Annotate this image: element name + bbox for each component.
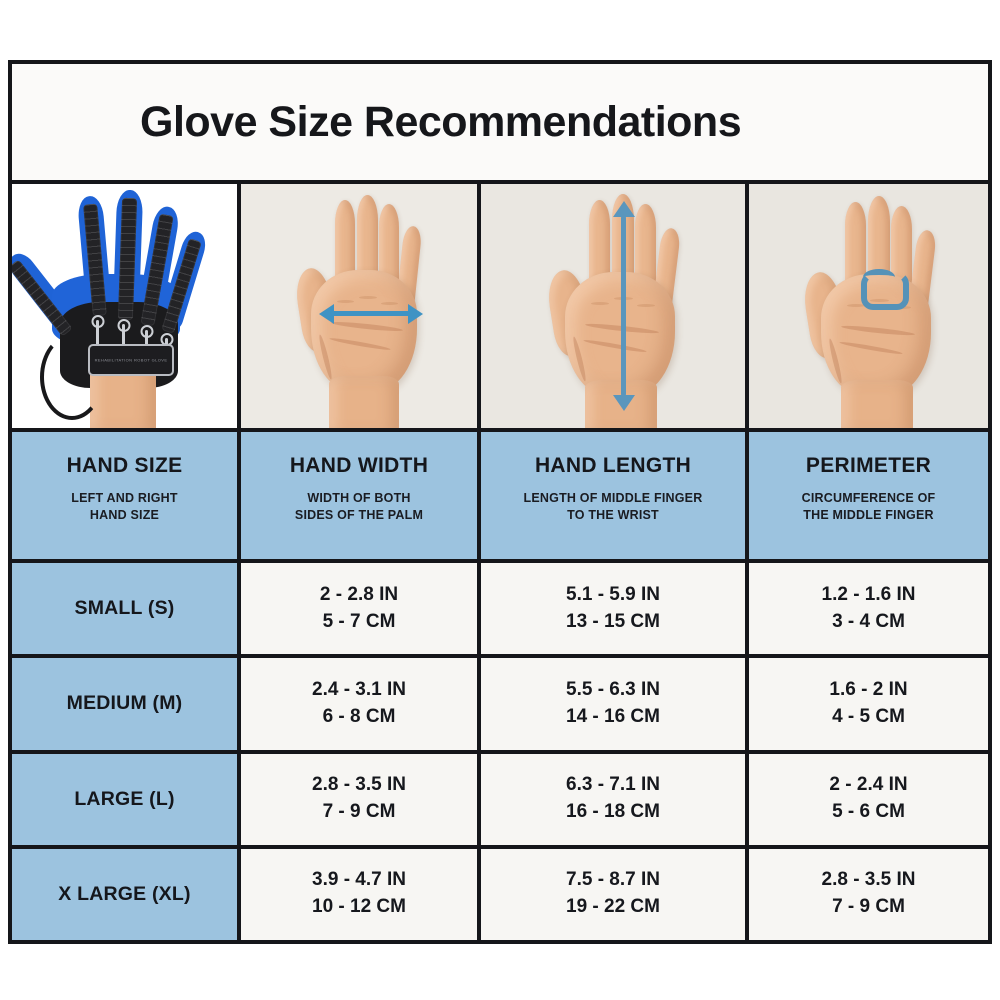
size-label: X LARGE (XL) xyxy=(58,883,190,906)
measure-inches: 2.4 - 3.1 IN xyxy=(312,677,406,704)
header-title: HAND SIZE xyxy=(67,454,183,477)
page-title: Glove Size Recommendations xyxy=(12,98,741,147)
table-row: X LARGE (XL) 3.9 - 4.7 IN 10 - 12 CM 7.5… xyxy=(12,849,988,940)
header-hand-size: HAND SIZE LEFT AND RIGHT HAND SIZE xyxy=(12,432,241,559)
measure-inches: 2.8 - 3.5 IN xyxy=(312,772,406,799)
size-label-cell: MEDIUM (M) xyxy=(12,658,241,749)
hand-graphic xyxy=(749,184,988,428)
measure-inches: 5.5 - 6.3 IN xyxy=(566,677,660,704)
size-label-cell: LARGE (L) xyxy=(12,754,241,845)
hand-length-cell: 5.1 - 5.9 IN 13 - 15 CM xyxy=(481,563,749,654)
size-label: LARGE (L) xyxy=(74,788,174,811)
hand-width-cell: 2.8 - 3.5 IN 7 - 9 CM xyxy=(241,754,481,845)
measure-cm: 10 - 12 CM xyxy=(312,894,406,921)
header-subtitle-line1: CIRCUMFERENCE OF xyxy=(802,490,936,507)
table-row: LARGE (L) 2.8 - 3.5 IN 7 - 9 CM 6.3 - 7.… xyxy=(12,754,988,849)
perimeter-cell: 2.8 - 3.5 IN 7 - 9 CM xyxy=(749,849,988,940)
size-label: SMALL (S) xyxy=(74,597,174,620)
robotic-glove-photo: REHABILITATION ROBOT GLOVE xyxy=(12,184,241,428)
illustration-row: REHABILITATION ROBOT GLOVE xyxy=(12,184,988,432)
hand-width-cell: 2.4 - 3.1 IN 6 - 8 CM xyxy=(241,658,481,749)
header-title: HAND WIDTH xyxy=(290,454,428,477)
header-subtitle: LENGTH OF MIDDLE FINGER TO THE WRIST xyxy=(524,490,703,524)
measure-cm: 16 - 18 CM xyxy=(566,799,660,826)
table-row: MEDIUM (M) 2.4 - 3.1 IN 6 - 8 CM 5.5 - 6… xyxy=(12,658,988,753)
hand-length-cell: 7.5 - 8.7 IN 19 - 22 CM xyxy=(481,849,749,940)
measure-inches: 6.3 - 7.1 IN xyxy=(566,772,660,799)
hand-length-cell: 6.3 - 7.1 IN 16 - 18 CM xyxy=(481,754,749,845)
header-subtitle-line2: THE MIDDLE FINGER xyxy=(802,507,936,524)
glove-cuff-label: REHABILITATION ROBOT GLOVE xyxy=(94,358,168,363)
hand-width-arrow xyxy=(332,311,410,316)
measure-cm: 7 - 9 CM xyxy=(323,799,396,826)
header-subtitle: CIRCUMFERENCE OF THE MIDDLE FINGER xyxy=(802,490,936,524)
measure-inches: 2 - 2.4 IN xyxy=(829,772,907,799)
column-header-row: HAND SIZE LEFT AND RIGHT HAND SIZE HAND … xyxy=(12,432,988,563)
glove-size-chart-table: Glove Size Recommendations xyxy=(8,60,992,944)
size-chart-page: Glove Size Recommendations xyxy=(0,0,1000,1000)
header-subtitle-line1: WIDTH OF BOTH xyxy=(295,490,423,507)
hand-graphic xyxy=(241,184,477,428)
header-hand-length: HAND LENGTH LENGTH OF MIDDLE FINGER TO T… xyxy=(481,432,749,559)
perimeter-cell: 2 - 2.4 IN 5 - 6 CM xyxy=(749,754,988,845)
perimeter-cell: 1.6 - 2 IN 4 - 5 CM xyxy=(749,658,988,749)
measure-cm: 5 - 6 CM xyxy=(832,799,905,826)
header-subtitle-line1: LEFT AND RIGHT xyxy=(71,490,178,507)
hand-width-cell: 2 - 2.8 IN 5 - 7 CM xyxy=(241,563,481,654)
header-subtitle-line2: HAND SIZE xyxy=(71,507,178,524)
measure-cm: 6 - 8 CM xyxy=(323,704,396,731)
measure-cm: 19 - 22 CM xyxy=(566,894,660,921)
measure-cm: 13 - 15 CM xyxy=(566,609,660,636)
finger-perimeter-photo xyxy=(749,184,988,428)
measure-cm: 4 - 5 CM xyxy=(832,704,905,731)
header-title: PERIMETER xyxy=(806,454,931,477)
measure-inches: 5.1 - 5.9 IN xyxy=(566,582,660,609)
header-subtitle-line2: SIDES OF THE PALM xyxy=(295,507,423,524)
size-label-cell: SMALL (S) xyxy=(12,563,241,654)
measure-inches: 1.6 - 2 IN xyxy=(829,677,907,704)
hand-width-photo xyxy=(241,184,481,428)
header-hand-width: HAND WIDTH WIDTH OF BOTH SIDES OF THE PA… xyxy=(241,432,481,559)
header-perimeter: PERIMETER CIRCUMFERENCE OF THE MIDDLE FI… xyxy=(749,432,988,559)
measure-inches: 7.5 - 8.7 IN xyxy=(566,867,660,894)
hand-graphic xyxy=(481,184,745,428)
glove-graphic: REHABILITATION ROBOT GLOVE xyxy=(12,184,237,428)
measure-inches: 1.2 - 1.6 IN xyxy=(822,582,916,609)
size-label: MEDIUM (M) xyxy=(67,692,183,715)
hand-width-cell: 3.9 - 4.7 IN 10 - 12 CM xyxy=(241,849,481,940)
hand-length-arrow xyxy=(621,216,626,396)
header-subtitle: WIDTH OF BOTH SIDES OF THE PALM xyxy=(295,490,423,524)
chart-title-row: Glove Size Recommendations xyxy=(12,64,988,184)
measure-inches: 3.9 - 4.7 IN xyxy=(312,867,406,894)
perimeter-cell: 1.2 - 1.6 IN 3 - 4 CM xyxy=(749,563,988,654)
measure-cm: 7 - 9 CM xyxy=(832,894,905,921)
measure-cm: 14 - 16 CM xyxy=(566,704,660,731)
hand-length-photo xyxy=(481,184,749,428)
measure-cm: 3 - 4 CM xyxy=(832,609,905,636)
header-title: HAND LENGTH xyxy=(535,454,691,477)
measure-inches: 2.8 - 3.5 IN xyxy=(822,867,916,894)
measure-cm: 5 - 7 CM xyxy=(323,609,396,636)
header-subtitle: LEFT AND RIGHT HAND SIZE xyxy=(71,490,178,524)
header-subtitle-line1: LENGTH OF MIDDLE FINGER xyxy=(524,490,703,507)
measure-inches: 2 - 2.8 IN xyxy=(320,582,398,609)
hand-length-cell: 5.5 - 6.3 IN 14 - 16 CM xyxy=(481,658,749,749)
header-subtitle-line2: TO THE WRIST xyxy=(524,507,703,524)
size-label-cell: X LARGE (XL) xyxy=(12,849,241,940)
table-row: SMALL (S) 2 - 2.8 IN 5 - 7 CM 5.1 - 5.9 … xyxy=(12,563,988,658)
